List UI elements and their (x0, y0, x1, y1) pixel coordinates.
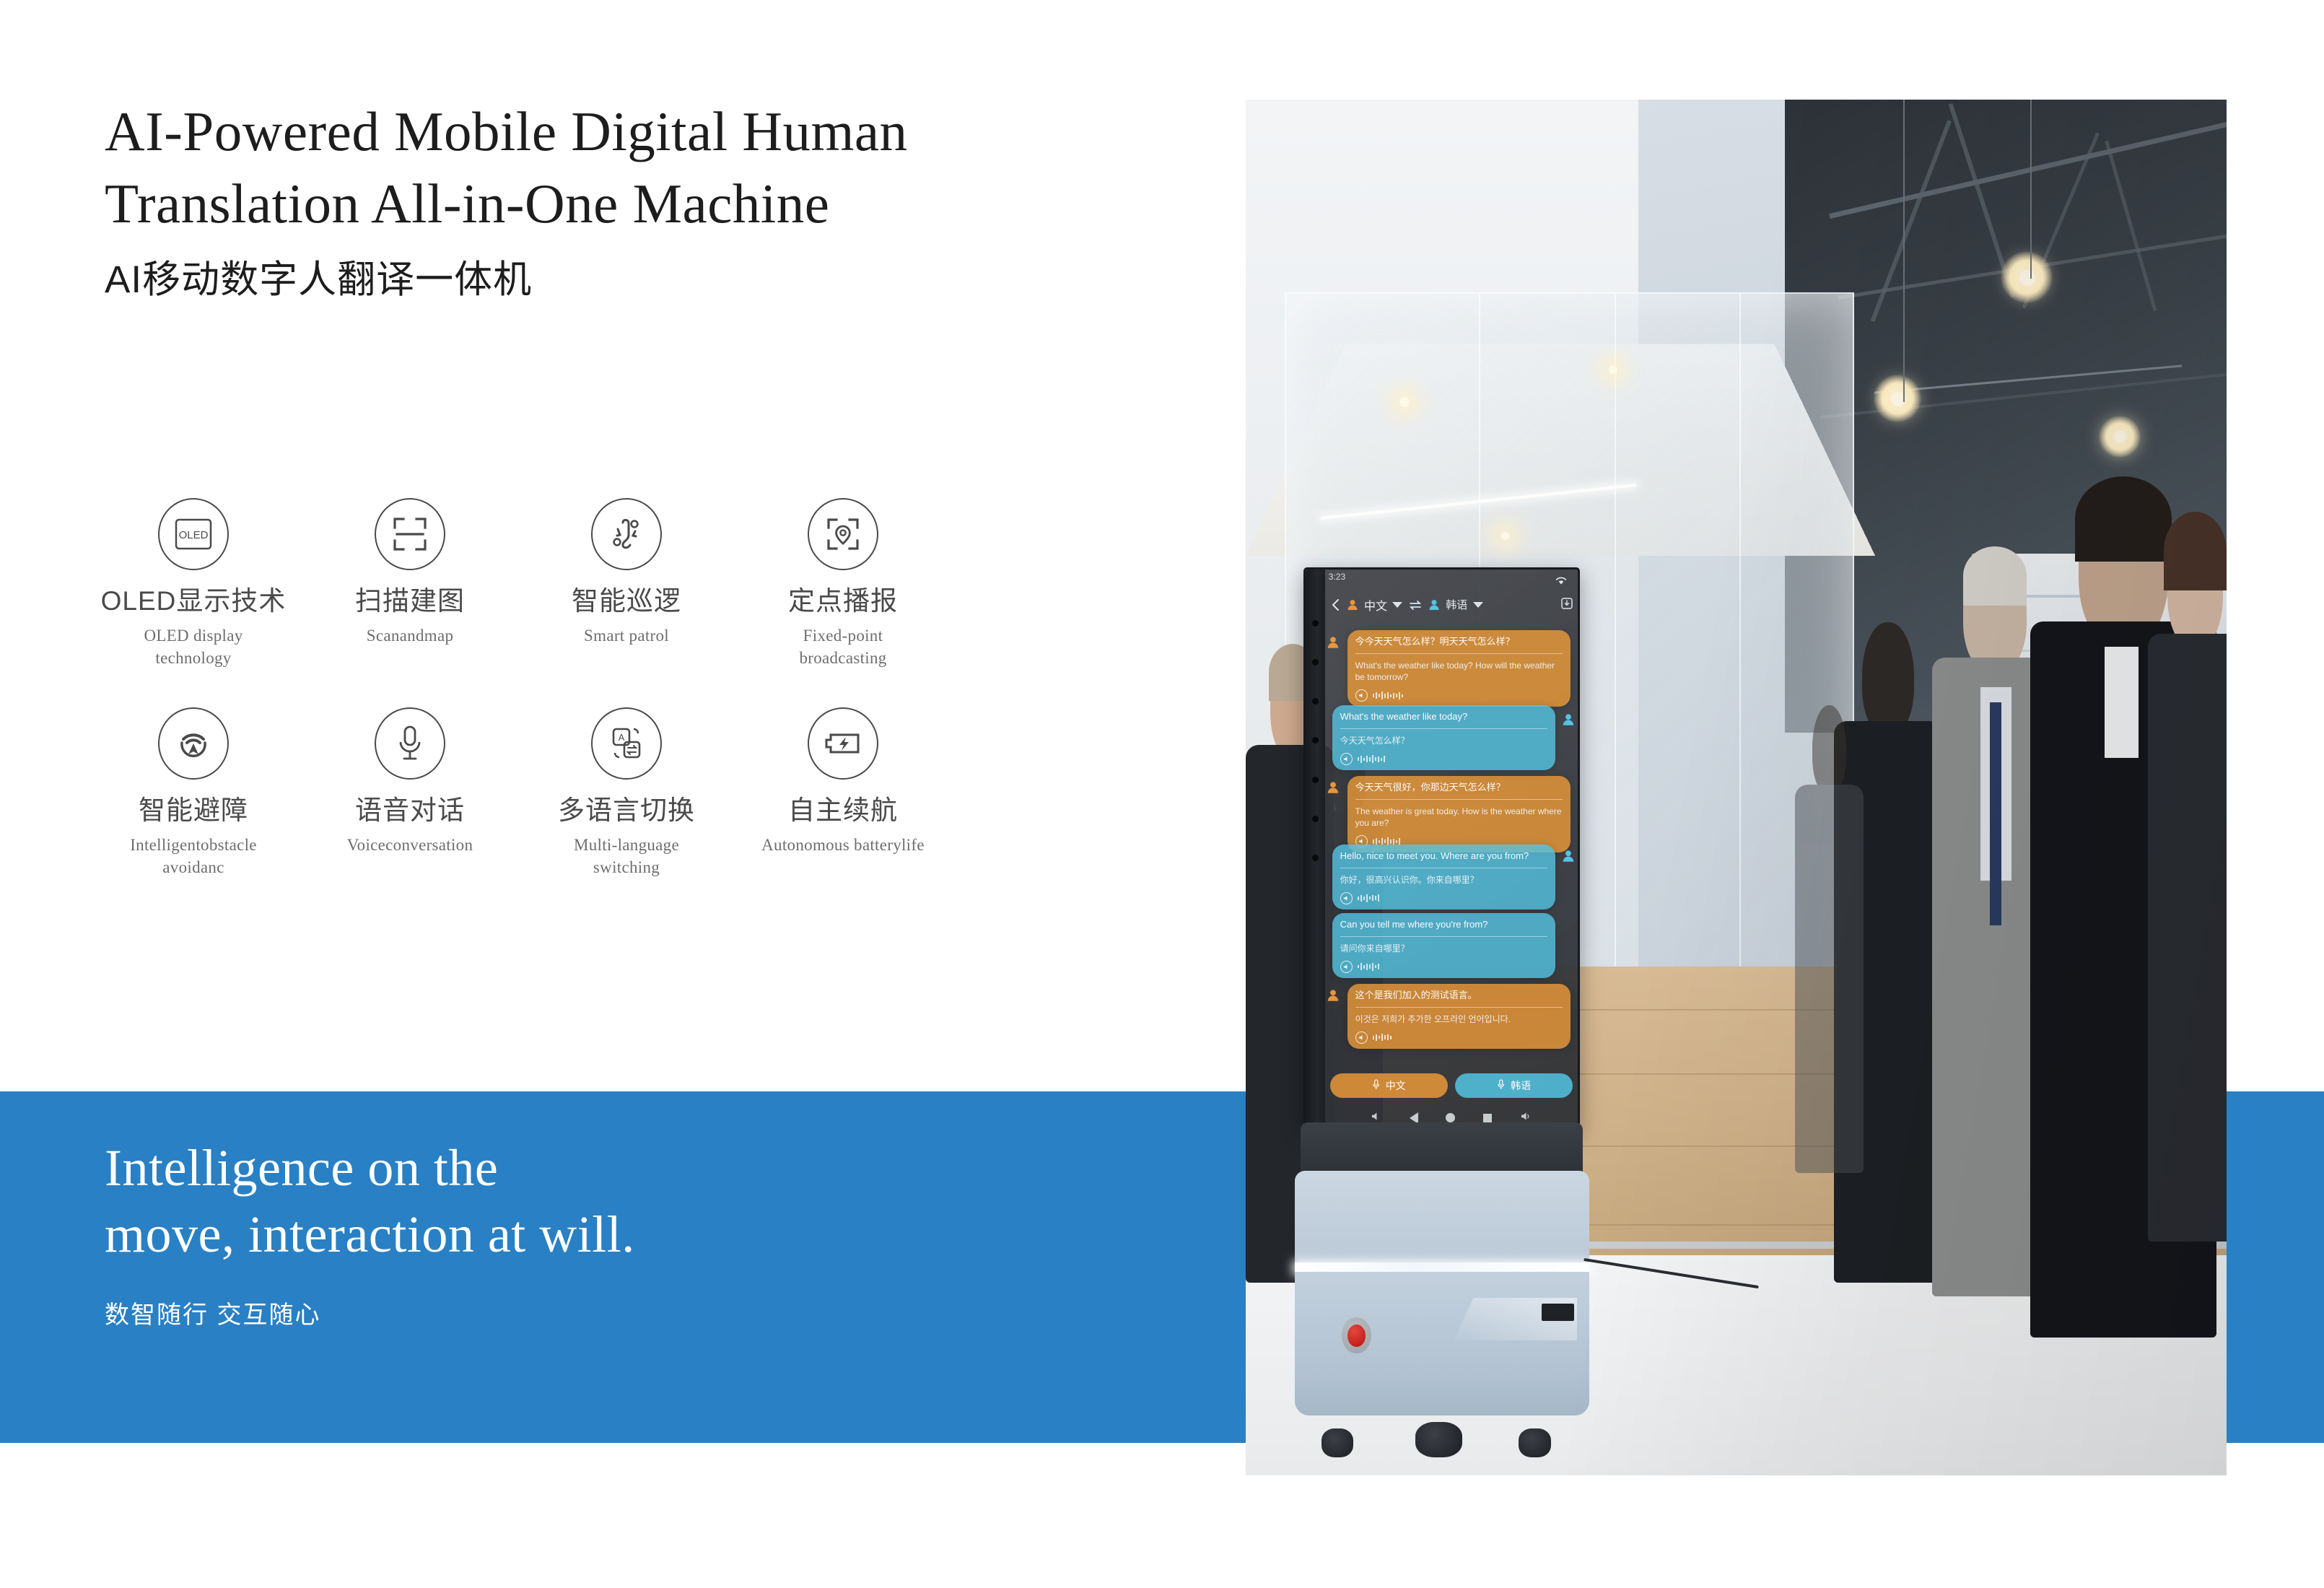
feature-label-en: Scanandmap (367, 624, 454, 647)
product-photo: 3:23 (1246, 100, 2227, 1475)
battery-charge-icon (808, 707, 878, 780)
photo-vignette (1246, 100, 2227, 1475)
feature-label-zh: 自主续航 (788, 795, 898, 826)
slogan-chinese: 数智随行 交互随心 (105, 1295, 635, 1330)
page-title-chinese: AI移动数字人翻译一体机 (105, 257, 1187, 303)
svg-text:A: A (619, 732, 625, 743)
patrol-route-icon (591, 498, 662, 570)
page-title-english: AI-Powered Mobile Digital Human Translat… (105, 95, 1187, 240)
feature-item-oled: OLED OLED显示技术 OLED display technology (85, 498, 302, 707)
feature-label-en: Autonomous batterylife (761, 834, 925, 856)
title-block: AI-Powered Mobile Digital Human Translat… (105, 95, 1187, 303)
feature-label-en: Multi-language switching (543, 834, 709, 878)
oled-display-icon: OLED (158, 498, 229, 570)
feature-label-zh: 智能避障 (139, 795, 248, 826)
feature-label-zh: 语音对话 (355, 795, 465, 826)
feature-item-language: A 多语言切换 Multi-language switching (518, 707, 735, 917)
slogan-english: Intelligence on the move, interaction at… (105, 1135, 635, 1268)
feature-label-en: Fixed-point broadcasting (760, 624, 926, 669)
language-switch-icon: A (591, 707, 662, 780)
feature-label-en: OLED display technology (110, 624, 276, 669)
slogan-banner-right-strip (2227, 1091, 2324, 1443)
feature-item-voice: 语音对话 Voiceconversation (302, 707, 518, 917)
feature-label-zh: 多语言切换 (558, 795, 695, 826)
feature-label-en: Voiceconversation (347, 834, 473, 856)
obstacle-radar-icon (158, 707, 229, 780)
feature-label-en: Intelligentobstacle avoidanc (110, 834, 276, 878)
feature-label-zh: OLED显示技术 (101, 586, 287, 617)
feature-item-obstacle: 智能避障 Intelligentobstacle avoidanc (85, 707, 302, 917)
scan-frame-icon (375, 498, 445, 570)
feature-label-en: Smart patrol (584, 624, 669, 647)
feature-item-fixed-point: 定点播报 Fixed-point broadcasting (735, 498, 951, 707)
location-broadcast-icon (808, 498, 878, 570)
feature-item-battery: 自主续航 Autonomous batterylife (735, 707, 951, 917)
slogan-text-block: Intelligence on the move, interaction at… (105, 1135, 635, 1330)
feature-label-zh: 定点播报 (788, 586, 898, 617)
svg-text:OLED: OLED (179, 529, 209, 541)
feature-grid: OLED OLED显示技术 OLED display technology 扫描… (85, 498, 1023, 917)
slogan-banner: Intelligence on the move, interaction at… (0, 1091, 1247, 1443)
feature-label-zh: 智能巡逻 (572, 586, 681, 617)
feature-item-scan: 扫描建图 Scanandmap (302, 498, 518, 707)
microphone-icon (375, 707, 445, 780)
feature-item-patrol: 智能巡逻 Smart patrol (518, 498, 735, 707)
feature-label-zh: 扫描建图 (355, 586, 465, 617)
